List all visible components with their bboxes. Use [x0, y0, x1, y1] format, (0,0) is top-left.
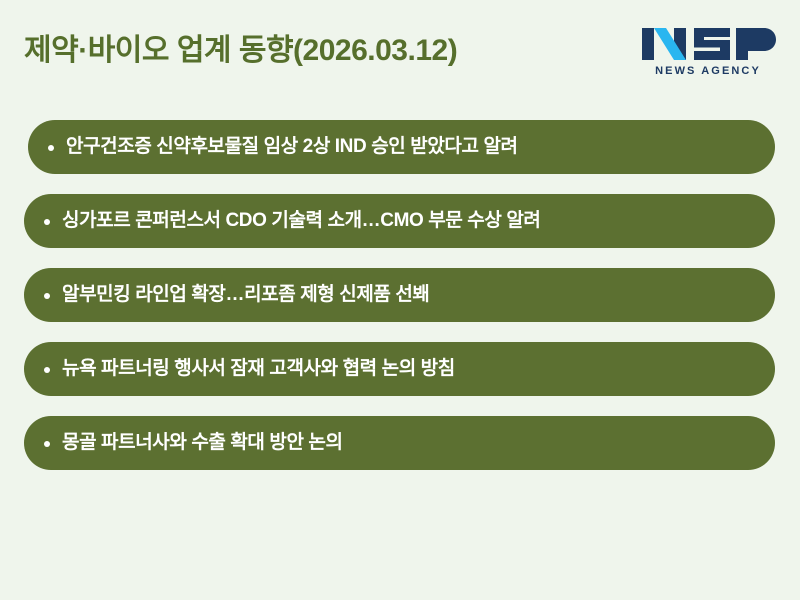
bullet-text: 뉴욕 파트너링 행사서 잠재 고객사와 협력 논의 방침 [62, 358, 749, 381]
bullet-pill-2: 싱가포르 콘퍼런스서 CDO 기술력 소개…CMO 부문 수상 알려 [24, 194, 775, 248]
bullet-text: 안구건조증 신약후보물질 임상 2상 IND 승인 받았다고 알려 [66, 136, 749, 159]
slide-header: 제약·바이오 업계 동향(2026.03.12) NEWS AGENCY [0, 0, 800, 112]
slide-canvas: 제약·바이오 업계 동향(2026.03.12) NEWS AGENCY 안구건… [0, 0, 800, 600]
bullet-dot-icon [44, 219, 50, 225]
bullet-pill-3: 알부민킹 라인업 확장…리포좀 제형 신제품 선봬 [24, 268, 775, 322]
nsp-wordmark-icon [638, 24, 778, 64]
nsp-logo: NEWS AGENCY [638, 24, 778, 82]
bullet-dot-icon [48, 145, 54, 151]
bullet-dot-icon [44, 367, 50, 373]
bullet-text: 알부민킹 라인업 확장…리포좀 제형 신제품 선봬 [62, 284, 749, 307]
bullet-text: 몽골 파트너사와 수출 확대 방안 논의 [62, 432, 749, 455]
bullet-pill-5: 몽골 파트너사와 수출 확대 방안 논의 [24, 416, 775, 470]
bullet-pill-4: 뉴욕 파트너링 행사서 잠재 고객사와 협력 논의 방침 [24, 342, 775, 396]
bullet-pill-1: 안구건조증 신약후보물질 임상 2상 IND 승인 받았다고 알려 [28, 120, 775, 174]
bullet-dot-icon [44, 441, 50, 447]
bullet-list: 안구건조증 신약후보물질 임상 2상 IND 승인 받았다고 알려 싱가포르 콘… [0, 120, 800, 470]
bullet-text: 싱가포르 콘퍼런스서 CDO 기술력 소개…CMO 부문 수상 알려 [62, 210, 749, 233]
bullet-dot-icon [44, 293, 50, 299]
logo-tagline: NEWS AGENCY [638, 64, 778, 78]
page-title: 제약·바이오 업계 동향(2026.03.12) [24, 33, 457, 69]
